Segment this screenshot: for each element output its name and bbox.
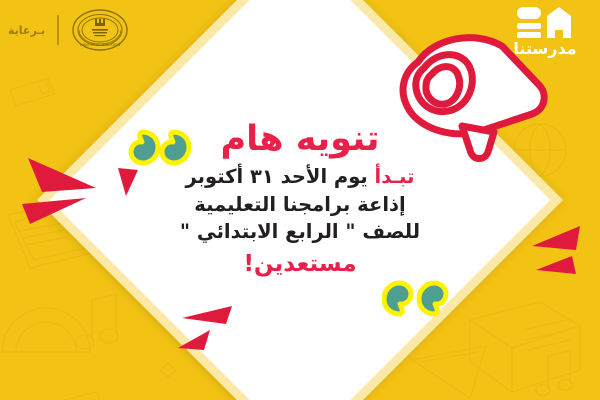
header-divider [57, 15, 59, 45]
svg-text:MINISTRY OF EDUCATION: MINISTRY OF EDUCATION [80, 43, 121, 47]
header-left-brand: MINISTRY OF EDUCATION بـرعاية [8, 8, 129, 52]
body-line-3-rest: للصف " الرابع الابتدائي " [180, 220, 420, 243]
quotation-mark-open [128, 128, 194, 168]
headline: تنويه هام [0, 122, 600, 157]
patronage-label: بـرعاية [8, 24, 45, 37]
decor-triangle-bottom-2 [178, 330, 212, 352]
header-right-brand: مدرستنا [502, 6, 588, 57]
ministry-of-education-emblem: MINISTRY OF EDUCATION [71, 8, 129, 52]
poster-header: MINISTRY OF EDUCATION بـرعاية مدرستنا [0, 0, 600, 70]
announcement-text-block: تنويه هام تبـدأ يوم الأحد ٣١ أكتوبر إذاع… [0, 122, 600, 276]
body-line-1-accent: تبـدأ [375, 165, 415, 188]
body-line-2: إذاعة برامجنا التعليمية [0, 191, 600, 219]
madrasatna-logo [517, 6, 573, 40]
decor-triangle-bottom-1 [182, 306, 234, 326]
body-line-1: تبـدأ يوم الأحد ٣١ أكتوبر [0, 163, 600, 191]
brand-word: مدرستنا [513, 41, 576, 57]
body-line-2-rest: إذاعة برامجنا التعليمية [194, 193, 405, 216]
body-line-1-rest: يوم الأحد ٣١ أكتوبر [186, 165, 375, 188]
poster-canvas: MINISTRY OF EDUCATION بـرعاية مدرستنا [0, 0, 600, 400]
body-line-3: للصف " الرابع الابتدائي " [0, 218, 600, 246]
quotation-mark-close [382, 276, 456, 320]
closing-call: مستعدين! [0, 253, 600, 276]
